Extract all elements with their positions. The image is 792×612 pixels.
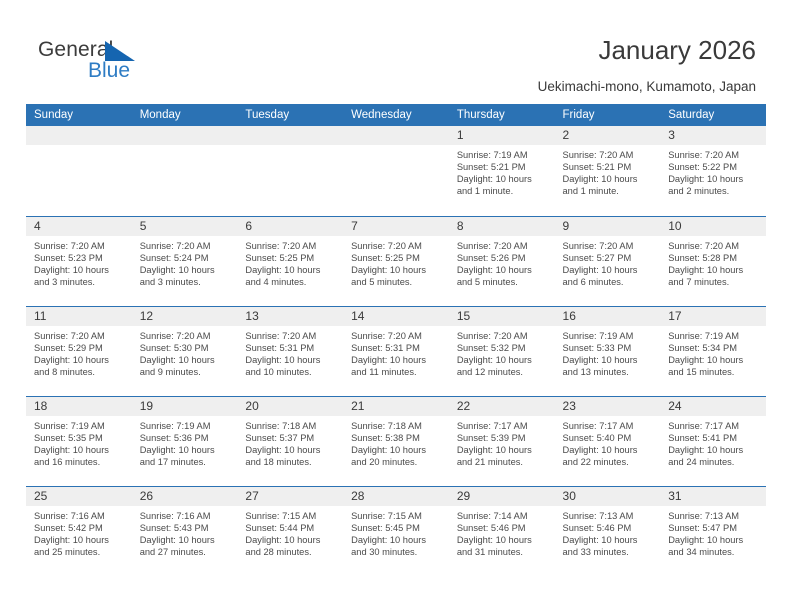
day-sun-info: Sunrise: 7:20 AMSunset: 5:26 PMDaylight:…: [449, 236, 555, 288]
sunset-text: Sunset: 5:29 PM: [34, 342, 126, 354]
day-number: 25: [26, 487, 132, 506]
sunset-text: Sunset: 5:25 PM: [351, 252, 443, 264]
daylight-text-line1: Daylight: 10 hours: [563, 354, 655, 366]
sunset-text: Sunset: 5:39 PM: [457, 432, 549, 444]
daylight-text-line2: and 13 minutes.: [563, 366, 655, 378]
sunset-text: Sunset: 5:40 PM: [563, 432, 655, 444]
day-number: 29: [449, 487, 555, 506]
calendar-day-cell[interactable]: 13Sunrise: 7:20 AMSunset: 5:31 PMDayligh…: [237, 306, 343, 396]
weekday-header-tuesday: Tuesday: [237, 104, 343, 126]
sunset-text: Sunset: 5:46 PM: [563, 522, 655, 534]
daylight-text-line2: and 3 minutes.: [34, 276, 126, 288]
general-blue-logo[interactable]: General Blue: [38, 38, 158, 84]
daylight-text-line2: and 9 minutes.: [140, 366, 232, 378]
daylight-text-line1: Daylight: 10 hours: [245, 264, 337, 276]
sunrise-text: Sunrise: 7:20 AM: [34, 330, 126, 342]
sunset-text: Sunset: 5:23 PM: [34, 252, 126, 264]
sunrise-text: Sunrise: 7:20 AM: [140, 330, 232, 342]
page-header: General Blue January 2026 Uekimachi-mono…: [0, 0, 792, 100]
day-number: 27: [237, 487, 343, 506]
sunset-text: Sunset: 5:43 PM: [140, 522, 232, 534]
day-sun-info: Sunrise: 7:20 AMSunset: 5:25 PMDaylight:…: [237, 236, 343, 288]
sunrise-text: Sunrise: 7:15 AM: [351, 510, 443, 522]
daylight-text-line1: Daylight: 10 hours: [140, 444, 232, 456]
daylight-text-line2: and 10 minutes.: [245, 366, 337, 378]
page-title: January 2026: [598, 35, 756, 66]
day-number: 1: [449, 126, 555, 145]
daylight-text-line2: and 28 minutes.: [245, 546, 337, 558]
calendar-day-cell[interactable]: 10Sunrise: 7:20 AMSunset: 5:28 PMDayligh…: [660, 216, 766, 306]
day-number: 23: [555, 397, 661, 416]
daylight-text-line1: Daylight: 10 hours: [457, 444, 549, 456]
day-number: 28: [343, 487, 449, 506]
daylight-text-line2: and 11 minutes.: [351, 366, 443, 378]
sunset-text: Sunset: 5:32 PM: [457, 342, 549, 354]
day-number: 19: [132, 397, 238, 416]
day-sun-info: Sunrise: 7:13 AMSunset: 5:47 PMDaylight:…: [660, 506, 766, 558]
day-number: 6: [237, 217, 343, 236]
sunrise-text: Sunrise: 7:15 AM: [245, 510, 337, 522]
sunset-text: Sunset: 5:38 PM: [351, 432, 443, 444]
day-sun-info: Sunrise: 7:19 AMSunset: 5:33 PMDaylight:…: [555, 326, 661, 378]
sunrise-text: Sunrise: 7:19 AM: [668, 330, 760, 342]
daylight-text-line1: Daylight: 10 hours: [563, 444, 655, 456]
day-number: 26: [132, 487, 238, 506]
daylight-text-line1: Daylight: 10 hours: [140, 354, 232, 366]
day-number: 18: [26, 397, 132, 416]
sunset-text: Sunset: 5:31 PM: [351, 342, 443, 354]
calendar-day-cell[interactable]: 27Sunrise: 7:15 AMSunset: 5:44 PMDayligh…: [237, 486, 343, 576]
weekday-header-thursday: Thursday: [449, 104, 555, 126]
calendar-day-cell[interactable]: 23Sunrise: 7:17 AMSunset: 5:40 PMDayligh…: [555, 396, 661, 486]
day-number: 30: [555, 487, 661, 506]
day-sun-info: Sunrise: 7:15 AMSunset: 5:45 PMDaylight:…: [343, 506, 449, 558]
daylight-text-line1: Daylight: 10 hours: [457, 173, 549, 185]
daylight-text-line2: and 6 minutes.: [563, 276, 655, 288]
daylight-text-line1: Daylight: 10 hours: [457, 534, 549, 546]
calendar-day-cell[interactable]: 4Sunrise: 7:20 AMSunset: 5:23 PMDaylight…: [26, 216, 132, 306]
daylight-text-line1: Daylight: 10 hours: [140, 264, 232, 276]
sunrise-text: Sunrise: 7:20 AM: [563, 149, 655, 161]
day-sun-info: Sunrise: 7:19 AMSunset: 5:34 PMDaylight:…: [660, 326, 766, 378]
sunrise-text: Sunrise: 7:17 AM: [563, 420, 655, 432]
day-sun-info: Sunrise: 7:20 AMSunset: 5:31 PMDaylight:…: [343, 326, 449, 378]
day-number: 3: [660, 126, 766, 145]
location-subtitle: Uekimachi-mono, Kumamoto, Japan: [538, 79, 756, 94]
sunset-text: Sunset: 5:27 PM: [563, 252, 655, 264]
sunrise-text: Sunrise: 7:20 AM: [245, 330, 337, 342]
sunset-text: Sunset: 5:21 PM: [457, 161, 549, 173]
sunset-text: Sunset: 5:46 PM: [457, 522, 549, 534]
calendar-day-cell[interactable]: 5Sunrise: 7:20 AMSunset: 5:24 PMDaylight…: [132, 216, 238, 306]
daylight-text-line2: and 18 minutes.: [245, 456, 337, 468]
daylight-text-line1: Daylight: 10 hours: [457, 264, 549, 276]
sunrise-text: Sunrise: 7:19 AM: [563, 330, 655, 342]
day-sun-info: Sunrise: 7:20 AMSunset: 5:32 PMDaylight:…: [449, 326, 555, 378]
calendar-day-cell[interactable]: 29Sunrise: 7:14 AMSunset: 5:46 PMDayligh…: [449, 486, 555, 576]
day-sun-info: Sunrise: 7:19 AMSunset: 5:35 PMDaylight:…: [26, 416, 132, 468]
daylight-text-line1: Daylight: 10 hours: [563, 264, 655, 276]
sunrise-text: Sunrise: 7:18 AM: [351, 420, 443, 432]
calendar-day-cell[interactable]: 17Sunrise: 7:19 AMSunset: 5:34 PMDayligh…: [660, 306, 766, 396]
sunset-text: Sunset: 5:41 PM: [668, 432, 760, 444]
daylight-text-line1: Daylight: 10 hours: [140, 534, 232, 546]
calendar-day-cell[interactable]: 7Sunrise: 7:20 AMSunset: 5:25 PMDaylight…: [343, 216, 449, 306]
calendar-week-row: 11Sunrise: 7:20 AMSunset: 5:29 PMDayligh…: [26, 306, 766, 396]
day-number: 14: [343, 307, 449, 326]
calendar-day-cell[interactable]: 8Sunrise: 7:20 AMSunset: 5:26 PMDaylight…: [449, 216, 555, 306]
day-number: 16: [555, 307, 661, 326]
sunrise-text: Sunrise: 7:20 AM: [34, 240, 126, 252]
day-number: 21: [343, 397, 449, 416]
day-sun-info: Sunrise: 7:13 AMSunset: 5:46 PMDaylight:…: [555, 506, 661, 558]
day-number: [237, 126, 343, 145]
sunrise-text: Sunrise: 7:13 AM: [668, 510, 760, 522]
daylight-text-line1: Daylight: 10 hours: [668, 534, 760, 546]
sunrise-text: Sunrise: 7:20 AM: [563, 240, 655, 252]
sunset-text: Sunset: 5:47 PM: [668, 522, 760, 534]
day-number: 17: [660, 307, 766, 326]
day-number: 15: [449, 307, 555, 326]
calendar-day-cell[interactable]: 11Sunrise: 7:20 AMSunset: 5:29 PMDayligh…: [26, 306, 132, 396]
daylight-text-line1: Daylight: 10 hours: [245, 354, 337, 366]
sunrise-text: Sunrise: 7:20 AM: [668, 240, 760, 252]
daylight-text-line1: Daylight: 10 hours: [351, 444, 443, 456]
calendar-body: 1Sunrise: 7:19 AMSunset: 5:21 PMDaylight…: [26, 126, 766, 576]
day-sun-info: Sunrise: 7:16 AMSunset: 5:42 PMDaylight:…: [26, 506, 132, 558]
daylight-text-line1: Daylight: 10 hours: [351, 534, 443, 546]
day-sun-info: Sunrise: 7:20 AMSunset: 5:24 PMDaylight:…: [132, 236, 238, 288]
day-sun-info: Sunrise: 7:15 AMSunset: 5:44 PMDaylight:…: [237, 506, 343, 558]
weekday-header-wednesday: Wednesday: [343, 104, 449, 126]
sunrise-text: Sunrise: 7:20 AM: [457, 330, 549, 342]
day-sun-info: Sunrise: 7:19 AMSunset: 5:21 PMDaylight:…: [449, 145, 555, 197]
calendar-week-row: 1Sunrise: 7:19 AMSunset: 5:21 PMDaylight…: [26, 126, 766, 216]
day-sun-info: Sunrise: 7:18 AMSunset: 5:38 PMDaylight:…: [343, 416, 449, 468]
day-number: 4: [26, 217, 132, 236]
weekday-header-saturday: Saturday: [660, 104, 766, 126]
sunset-text: Sunset: 5:22 PM: [668, 161, 760, 173]
sunrise-text: Sunrise: 7:14 AM: [457, 510, 549, 522]
sunrise-text: Sunrise: 7:20 AM: [457, 240, 549, 252]
day-number: 10: [660, 217, 766, 236]
sunrise-text: Sunrise: 7:17 AM: [457, 420, 549, 432]
sunset-text: Sunset: 5:25 PM: [245, 252, 337, 264]
day-number: [343, 126, 449, 145]
day-number: 20: [237, 397, 343, 416]
sunrise-text: Sunrise: 7:20 AM: [351, 240, 443, 252]
daylight-text-line2: and 30 minutes.: [351, 546, 443, 558]
day-sun-info: Sunrise: 7:16 AMSunset: 5:43 PMDaylight:…: [132, 506, 238, 558]
weekday-header-friday: Friday: [555, 104, 661, 126]
day-sun-info: Sunrise: 7:20 AMSunset: 5:22 PMDaylight:…: [660, 145, 766, 197]
day-sun-info: Sunrise: 7:14 AMSunset: 5:46 PMDaylight:…: [449, 506, 555, 558]
daylight-text-line2: and 34 minutes.: [668, 546, 760, 558]
calendar-page: General Blue January 2026 Uekimachi-mono…: [0, 0, 792, 612]
sunrise-text: Sunrise: 7:20 AM: [351, 330, 443, 342]
calendar-day-cell[interactable]: 18Sunrise: 7:19 AMSunset: 5:35 PMDayligh…: [26, 396, 132, 486]
sunset-text: Sunset: 5:42 PM: [34, 522, 126, 534]
calendar-cell-empty: [237, 126, 343, 216]
daylight-text-line2: and 16 minutes.: [34, 456, 126, 468]
daylight-text-line1: Daylight: 10 hours: [245, 534, 337, 546]
day-sun-info: Sunrise: 7:19 AMSunset: 5:36 PMDaylight:…: [132, 416, 238, 468]
calendar-cell-empty: [26, 126, 132, 216]
daylight-text-line2: and 17 minutes.: [140, 456, 232, 468]
daylight-text-line2: and 21 minutes.: [457, 456, 549, 468]
sunset-text: Sunset: 5:35 PM: [34, 432, 126, 444]
day-number: 31: [660, 487, 766, 506]
daylight-text-line2: and 8 minutes.: [34, 366, 126, 378]
calendar-day-cell[interactable]: 16Sunrise: 7:19 AMSunset: 5:33 PMDayligh…: [555, 306, 661, 396]
day-number: 7: [343, 217, 449, 236]
calendar-day-cell[interactable]: 2Sunrise: 7:20 AMSunset: 5:21 PMDaylight…: [555, 126, 661, 216]
calendar-day-cell[interactable]: 14Sunrise: 7:20 AMSunset: 5:31 PMDayligh…: [343, 306, 449, 396]
sunset-text: Sunset: 5:36 PM: [140, 432, 232, 444]
daylight-text-line1: Daylight: 10 hours: [563, 173, 655, 185]
sunrise-text: Sunrise: 7:18 AM: [245, 420, 337, 432]
calendar-day-cell[interactable]: 25Sunrise: 7:16 AMSunset: 5:42 PMDayligh…: [26, 486, 132, 576]
sunset-text: Sunset: 5:26 PM: [457, 252, 549, 264]
calendar-day-cell[interactable]: 1Sunrise: 7:19 AMSunset: 5:21 PMDaylight…: [449, 126, 555, 216]
day-sun-info: Sunrise: 7:20 AMSunset: 5:23 PMDaylight:…: [26, 236, 132, 288]
calendar-table: Sunday Monday Tuesday Wednesday Thursday…: [26, 104, 766, 576]
day-number: 12: [132, 307, 238, 326]
day-number: 2: [555, 126, 661, 145]
day-sun-info: Sunrise: 7:18 AMSunset: 5:37 PMDaylight:…: [237, 416, 343, 468]
calendar-day-cell[interactable]: 30Sunrise: 7:13 AMSunset: 5:46 PMDayligh…: [555, 486, 661, 576]
sunrise-text: Sunrise: 7:20 AM: [245, 240, 337, 252]
daylight-text-line2: and 22 minutes.: [563, 456, 655, 468]
calendar-cell-empty: [343, 126, 449, 216]
calendar-day-cell[interactable]: 26Sunrise: 7:16 AMSunset: 5:43 PMDayligh…: [132, 486, 238, 576]
sunset-text: Sunset: 5:28 PM: [668, 252, 760, 264]
day-number: 8: [449, 217, 555, 236]
day-number: [26, 126, 132, 145]
sunrise-text: Sunrise: 7:20 AM: [140, 240, 232, 252]
calendar-day-cell[interactable]: 19Sunrise: 7:19 AMSunset: 5:36 PMDayligh…: [132, 396, 238, 486]
sunrise-text: Sunrise: 7:19 AM: [457, 149, 549, 161]
daylight-text-line2: and 2 minutes.: [668, 185, 760, 197]
day-sun-info: Sunrise: 7:17 AMSunset: 5:40 PMDaylight:…: [555, 416, 661, 468]
daylight-text-line1: Daylight: 10 hours: [34, 264, 126, 276]
daylight-text-line2: and 5 minutes.: [351, 276, 443, 288]
sunset-text: Sunset: 5:44 PM: [245, 522, 337, 534]
calendar-week-row: 25Sunrise: 7:16 AMSunset: 5:42 PMDayligh…: [26, 486, 766, 576]
daylight-text-line2: and 1 minute.: [563, 185, 655, 197]
calendar-day-cell[interactable]: 15Sunrise: 7:20 AMSunset: 5:32 PMDayligh…: [449, 306, 555, 396]
weekday-header-row: Sunday Monday Tuesday Wednesday Thursday…: [26, 104, 766, 126]
calendar-day-cell[interactable]: 28Sunrise: 7:15 AMSunset: 5:45 PMDayligh…: [343, 486, 449, 576]
sunrise-text: Sunrise: 7:19 AM: [140, 420, 232, 432]
sunset-text: Sunset: 5:34 PM: [668, 342, 760, 354]
daylight-text-line1: Daylight: 10 hours: [668, 354, 760, 366]
sunset-text: Sunset: 5:33 PM: [563, 342, 655, 354]
day-number: 9: [555, 217, 661, 236]
daylight-text-line1: Daylight: 10 hours: [245, 444, 337, 456]
day-sun-info: Sunrise: 7:20 AMSunset: 5:30 PMDaylight:…: [132, 326, 238, 378]
daylight-text-line2: and 12 minutes.: [457, 366, 549, 378]
calendar-day-cell[interactable]: 21Sunrise: 7:18 AMSunset: 5:38 PMDayligh…: [343, 396, 449, 486]
daylight-text-line1: Daylight: 10 hours: [351, 264, 443, 276]
day-sun-info: Sunrise: 7:20 AMSunset: 5:31 PMDaylight:…: [237, 326, 343, 378]
sunrise-text: Sunrise: 7:19 AM: [34, 420, 126, 432]
day-sun-info: Sunrise: 7:20 AMSunset: 5:25 PMDaylight:…: [343, 236, 449, 288]
daylight-text-line2: and 33 minutes.: [563, 546, 655, 558]
day-number: 13: [237, 307, 343, 326]
calendar-day-cell[interactable]: 9Sunrise: 7:20 AMSunset: 5:27 PMDaylight…: [555, 216, 661, 306]
daylight-text-line2: and 27 minutes.: [140, 546, 232, 558]
calendar-day-cell[interactable]: 22Sunrise: 7:17 AMSunset: 5:39 PMDayligh…: [449, 396, 555, 486]
sunset-text: Sunset: 5:31 PM: [245, 342, 337, 354]
calendar-week-row: 4Sunrise: 7:20 AMSunset: 5:23 PMDaylight…: [26, 216, 766, 306]
daylight-text-line2: and 5 minutes.: [457, 276, 549, 288]
sunset-text: Sunset: 5:21 PM: [563, 161, 655, 173]
daylight-text-line2: and 31 minutes.: [457, 546, 549, 558]
day-number: 11: [26, 307, 132, 326]
day-sun-info: Sunrise: 7:20 AMSunset: 5:29 PMDaylight:…: [26, 326, 132, 378]
daylight-text-line2: and 25 minutes.: [34, 546, 126, 558]
calendar-day-cell[interactable]: 31Sunrise: 7:13 AMSunset: 5:47 PMDayligh…: [660, 486, 766, 576]
day-number: 22: [449, 397, 555, 416]
daylight-text-line1: Daylight: 10 hours: [563, 534, 655, 546]
calendar-day-cell[interactable]: 12Sunrise: 7:20 AMSunset: 5:30 PMDayligh…: [132, 306, 238, 396]
sunset-text: Sunset: 5:30 PM: [140, 342, 232, 354]
daylight-text-line1: Daylight: 10 hours: [668, 264, 760, 276]
daylight-text-line1: Daylight: 10 hours: [668, 173, 760, 185]
day-number: 5: [132, 217, 238, 236]
sunrise-text: Sunrise: 7:20 AM: [668, 149, 760, 161]
logo-text-blue: Blue: [88, 59, 130, 82]
sunrise-text: Sunrise: 7:16 AM: [34, 510, 126, 522]
daylight-text-line1: Daylight: 10 hours: [668, 444, 760, 456]
daylight-text-line1: Daylight: 10 hours: [34, 354, 126, 366]
logo-text-general: General: [38, 38, 113, 61]
day-sun-info: Sunrise: 7:17 AMSunset: 5:41 PMDaylight:…: [660, 416, 766, 468]
calendar-day-cell[interactable]: 20Sunrise: 7:18 AMSunset: 5:37 PMDayligh…: [237, 396, 343, 486]
daylight-text-line2: and 4 minutes.: [245, 276, 337, 288]
sunset-text: Sunset: 5:24 PM: [140, 252, 232, 264]
daylight-text-line1: Daylight: 10 hours: [34, 444, 126, 456]
sunrise-text: Sunrise: 7:17 AM: [668, 420, 760, 432]
daylight-text-line1: Daylight: 10 hours: [457, 354, 549, 366]
weekday-header-sunday: Sunday: [26, 104, 132, 126]
day-sun-info: Sunrise: 7:20 AMSunset: 5:27 PMDaylight:…: [555, 236, 661, 288]
sunrise-text: Sunrise: 7:16 AM: [140, 510, 232, 522]
daylight-text-line2: and 3 minutes.: [140, 276, 232, 288]
daylight-text-line1: Daylight: 10 hours: [351, 354, 443, 366]
daylight-text-line1: Daylight: 10 hours: [34, 534, 126, 546]
calendar-day-cell[interactable]: 24Sunrise: 7:17 AMSunset: 5:41 PMDayligh…: [660, 396, 766, 486]
day-sun-info: Sunrise: 7:17 AMSunset: 5:39 PMDaylight:…: [449, 416, 555, 468]
day-number: 24: [660, 397, 766, 416]
day-number: [132, 126, 238, 145]
calendar-week-row: 18Sunrise: 7:19 AMSunset: 5:35 PMDayligh…: [26, 396, 766, 486]
calendar-day-cell[interactable]: 6Sunrise: 7:20 AMSunset: 5:25 PMDaylight…: [237, 216, 343, 306]
sunrise-text: Sunrise: 7:13 AM: [563, 510, 655, 522]
triangle-icon: [105, 41, 135, 61]
day-sun-info: Sunrise: 7:20 AMSunset: 5:21 PMDaylight:…: [555, 145, 661, 197]
sunset-text: Sunset: 5:45 PM: [351, 522, 443, 534]
daylight-text-line2: and 7 minutes.: [668, 276, 760, 288]
daylight-text-line2: and 15 minutes.: [668, 366, 760, 378]
calendar-day-cell[interactable]: 3Sunrise: 7:20 AMSunset: 5:22 PMDaylight…: [660, 126, 766, 216]
sunset-text: Sunset: 5:37 PM: [245, 432, 337, 444]
day-sun-info: Sunrise: 7:20 AMSunset: 5:28 PMDaylight:…: [660, 236, 766, 288]
weekday-header-monday: Monday: [132, 104, 238, 126]
daylight-text-line2: and 20 minutes.: [351, 456, 443, 468]
daylight-text-line2: and 24 minutes.: [668, 456, 760, 468]
calendar-cell-empty: [132, 126, 238, 216]
daylight-text-line2: and 1 minute.: [457, 185, 549, 197]
